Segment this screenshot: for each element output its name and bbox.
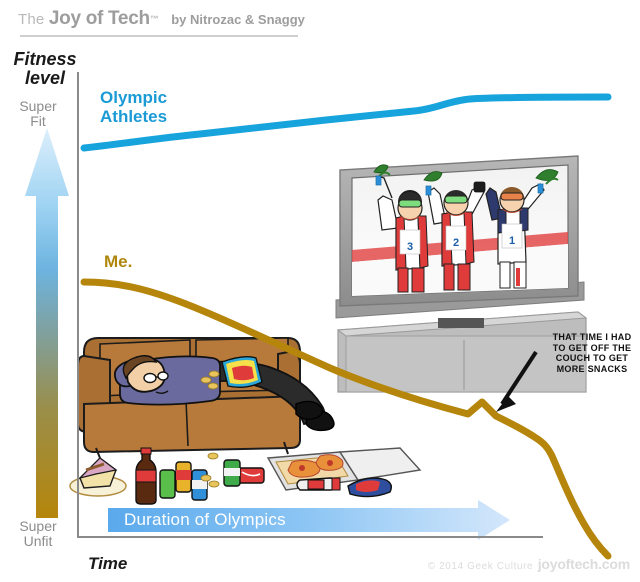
- comic-header: The Joy of Tech™ by Nitrozac & Snaggy: [18, 8, 305, 30]
- y-tick-super-fit: Super Fit: [2, 99, 74, 129]
- tv-bib-3: 3: [407, 241, 413, 253]
- y-tick-super-unfit-line2: Unfit: [24, 533, 53, 549]
- trademark-icon: ™: [150, 14, 159, 24]
- fitness-level-arrow: [25, 128, 69, 518]
- comic-illustration: 3: [0, 0, 640, 582]
- x-axis-line: [77, 536, 543, 538]
- header-the: The: [18, 11, 44, 28]
- comic-footer: © 2014 Geek Culture joyoftech.com: [428, 556, 630, 574]
- series-label-me: Me.: [104, 252, 132, 272]
- cola-bottle: [136, 448, 156, 504]
- snack-annotation-line4: MORE SNACKS: [557, 364, 628, 374]
- header-byline: by Nitrozac & Snaggy: [171, 12, 305, 27]
- fallen-bottle: [297, 478, 340, 490]
- tv-bib-2: 2: [453, 237, 459, 249]
- pizza-box: [268, 448, 420, 490]
- y-axis-line: [77, 72, 79, 538]
- tv-bib-1: 1: [509, 235, 515, 247]
- series-label-athletes-line2: Athletes: [100, 107, 167, 126]
- snack-annotation-line2: TO GET OFF THE: [553, 343, 632, 353]
- copyright-text: © 2014 Geek Culture: [428, 561, 534, 572]
- y-axis-title-line2: level: [25, 68, 65, 88]
- duration-arrow-label: Duration of Olympics: [124, 510, 286, 530]
- y-tick-super-unfit-line1: Super: [19, 518, 56, 534]
- soda-cans: [160, 460, 264, 500]
- header-divider: [20, 35, 298, 37]
- snack-annotation: THAT TIME I HAD TO GET OFF THE COUCH TO …: [546, 332, 638, 374]
- y-axis-title: Fitness level: [10, 50, 80, 88]
- y-axis-title-line1: Fitness: [13, 49, 76, 69]
- snack-annotation-line3: COUCH TO GET: [556, 353, 628, 363]
- snack-annotation-line1: THAT TIME I HAD: [553, 332, 632, 342]
- series-label-athletes-line1: Olympic: [100, 88, 167, 107]
- x-axis-title: Time: [88, 554, 127, 574]
- y-tick-super-fit-line1: Super: [19, 98, 56, 114]
- site-link[interactable]: joyoftech.com: [538, 556, 630, 572]
- y-tick-super-fit-line2: Fit: [30, 113, 46, 129]
- y-tick-super-unfit: Super Unfit: [2, 519, 74, 549]
- header-title: Joy of Tech: [49, 8, 150, 29]
- series-label-athletes: Olympic Athletes: [100, 88, 167, 126]
